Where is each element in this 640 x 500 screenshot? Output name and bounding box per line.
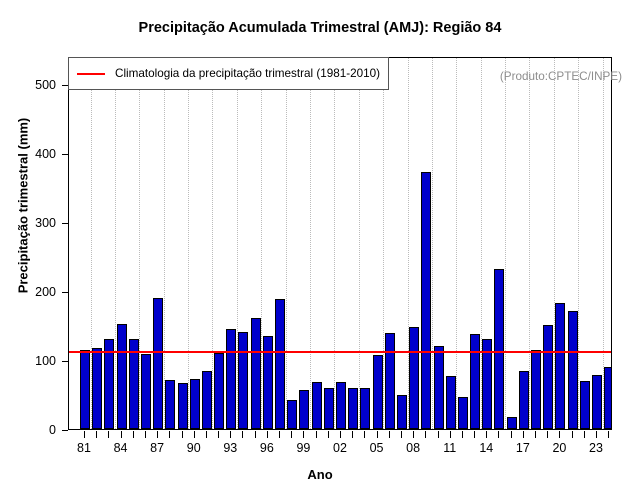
x-axis-tick-label: 81 <box>67 441 101 455</box>
x-axis-tick <box>608 431 609 438</box>
x-axis-tick <box>145 431 146 438</box>
x-axis-tick <box>523 431 524 438</box>
x-axis-tick <box>133 431 134 438</box>
x-axis-tick <box>279 431 280 438</box>
x-axis-tick <box>511 431 512 438</box>
climatology-reference-layer <box>69 58 611 429</box>
x-axis-tick <box>413 431 414 438</box>
x-axis-tick <box>498 431 499 438</box>
x-axis-tick-label: 11 <box>433 441 467 455</box>
x-axis-tick <box>84 431 85 438</box>
y-axis-tick <box>62 292 68 293</box>
x-axis-tick <box>96 431 97 438</box>
x-axis-tick-label: 93 <box>213 441 247 455</box>
product-credit: (Produto:CPTEC/INPE) <box>500 70 622 83</box>
x-axis-tick-label: 05 <box>360 441 394 455</box>
x-axis-tick <box>194 431 195 438</box>
y-axis-tick-label: 300 <box>10 217 56 230</box>
x-axis-tick <box>182 431 183 438</box>
x-axis-tick <box>169 431 170 438</box>
x-axis-tick <box>255 431 256 438</box>
legend: Climatologia da precipitação trimestral … <box>68 57 389 90</box>
x-axis-tick <box>267 431 268 438</box>
x-axis-tick <box>291 431 292 438</box>
x-axis-tick <box>377 431 378 438</box>
x-axis-tick <box>328 431 329 438</box>
x-axis-tick <box>352 431 353 438</box>
x-axis-tick <box>559 431 560 438</box>
x-axis-tick <box>547 431 548 438</box>
y-axis-tick <box>62 430 68 431</box>
x-axis-tick-label: 02 <box>323 441 357 455</box>
x-axis-tick <box>206 431 207 438</box>
x-axis-tick-label: 99 <box>286 441 320 455</box>
y-axis-tick-label: 0 <box>10 424 56 437</box>
x-axis-tick <box>462 431 463 438</box>
x-axis-tick <box>389 431 390 438</box>
x-axis-tick <box>108 431 109 438</box>
climatology-line <box>69 351 611 353</box>
y-axis-tick-label: 200 <box>10 286 56 299</box>
x-axis-tick-label: 23 <box>579 441 613 455</box>
x-axis-tick <box>157 431 158 438</box>
x-axis-tick <box>230 431 231 438</box>
y-axis-tick-label: 400 <box>10 148 56 161</box>
x-axis-tick-label: 17 <box>506 441 540 455</box>
x-axis-tick <box>364 431 365 438</box>
x-axis-tick <box>425 431 426 438</box>
x-axis-tick-label: 08 <box>396 441 430 455</box>
x-axis-tick <box>121 431 122 438</box>
x-axis-tick-label: 96 <box>250 441 284 455</box>
y-axis-tick <box>62 154 68 155</box>
x-axis-tick <box>474 431 475 438</box>
x-axis-tick <box>572 431 573 438</box>
x-axis-title: Ano <box>0 467 640 482</box>
legend-label: Climatologia da precipitação trimestral … <box>115 67 380 80</box>
plot-area <box>68 57 612 430</box>
y-axis-tick <box>62 361 68 362</box>
x-axis-tick <box>450 431 451 438</box>
y-axis-tick-label: 500 <box>10 79 56 92</box>
x-axis-tick <box>340 431 341 438</box>
chart-container: Precipitação Acumulada Trimestral (AMJ):… <box>0 0 640 500</box>
x-axis-tick <box>242 431 243 438</box>
y-axis-tick <box>62 223 68 224</box>
y-axis-tick-label: 100 <box>10 355 56 368</box>
chart-title: Precipitação Acumulada Trimestral (AMJ):… <box>0 20 640 36</box>
x-axis-tick <box>316 431 317 438</box>
x-axis-tick <box>486 431 487 438</box>
x-axis-tick <box>438 431 439 438</box>
x-axis-tick <box>596 431 597 438</box>
x-axis-tick <box>218 431 219 438</box>
x-axis-tick <box>303 431 304 438</box>
x-axis-tick <box>584 431 585 438</box>
x-axis-tick <box>535 431 536 438</box>
x-axis-tick-label: 20 <box>542 441 576 455</box>
legend-line-swatch <box>77 73 105 75</box>
x-axis-tick <box>401 431 402 438</box>
x-axis-tick-label: 14 <box>469 441 503 455</box>
x-axis-tick-label: 87 <box>140 441 174 455</box>
x-axis-tick-label: 84 <box>104 441 138 455</box>
x-axis-tick-label: 90 <box>177 441 211 455</box>
